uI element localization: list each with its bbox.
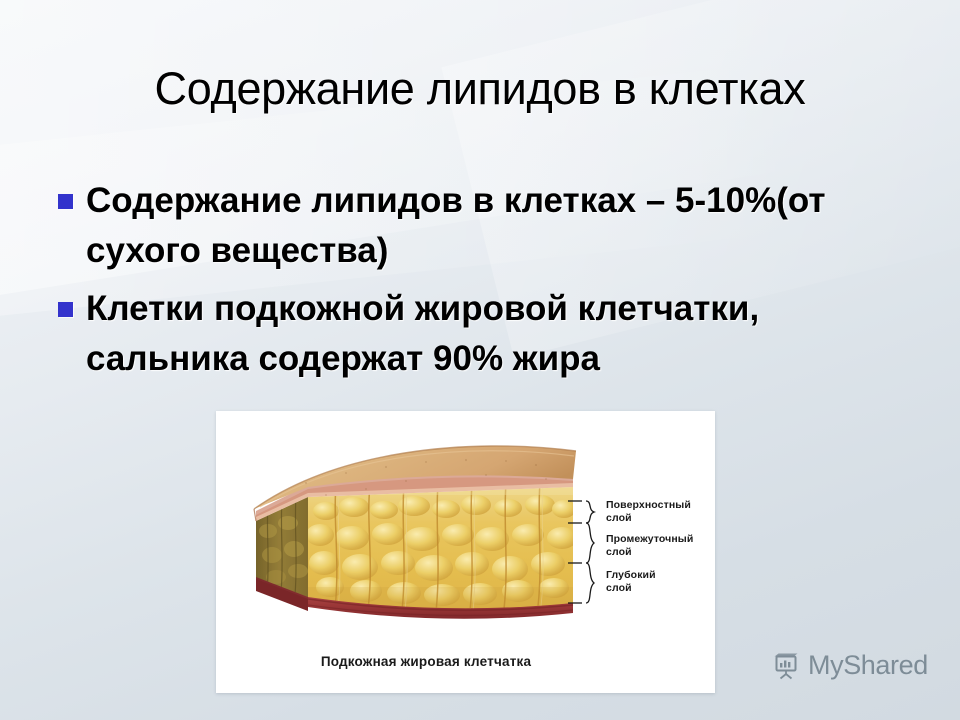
list-item: Клетки подкожной жировой клетчатки, саль… [58,284,918,384]
layer-label-line1: Промежуточный [606,533,693,546]
slide-title: Содержание липидов в клетках [60,62,900,116]
figure-panel: Поверхностный слой Промежуточный слой Гл… [216,411,715,693]
list-item: Содержание липидов в клетках – 5-10%(от … [58,176,918,276]
layer-label-deep: Глубокий слой [606,569,656,595]
watermark-text: MyShared [808,650,928,681]
myshared-watermark: MyShared [772,650,928,681]
figure-caption: Подкожная жировая клетчатка [216,654,636,669]
bullet-list: Содержание липидов в клетках – 5-10%(от … [58,176,918,392]
layer-label-line1: Глубокий [606,569,656,582]
presentation-board-icon [772,651,802,681]
slide: Содержание липидов в клетках Содержание … [0,0,960,720]
bullet-text: Клетки подкожной жировой клетчатки, саль… [86,284,918,384]
fat-front-face [304,481,579,621]
layer-label-line2: слой [606,582,656,595]
layer-label-line2: слой [606,546,693,559]
layer-label-line2: слой [606,512,691,525]
layer-label-superficial: Поверхностный слой [606,499,691,525]
layer-label-line1: Поверхностный [606,499,691,512]
bullet-text: Содержание липидов в клетках – 5-10%(от … [86,176,918,276]
square-bullet-icon [58,302,73,317]
square-bullet-icon [58,194,73,209]
layer-label-intermediate: Промежуточный слой [606,533,693,559]
layer-braces [586,501,594,603]
